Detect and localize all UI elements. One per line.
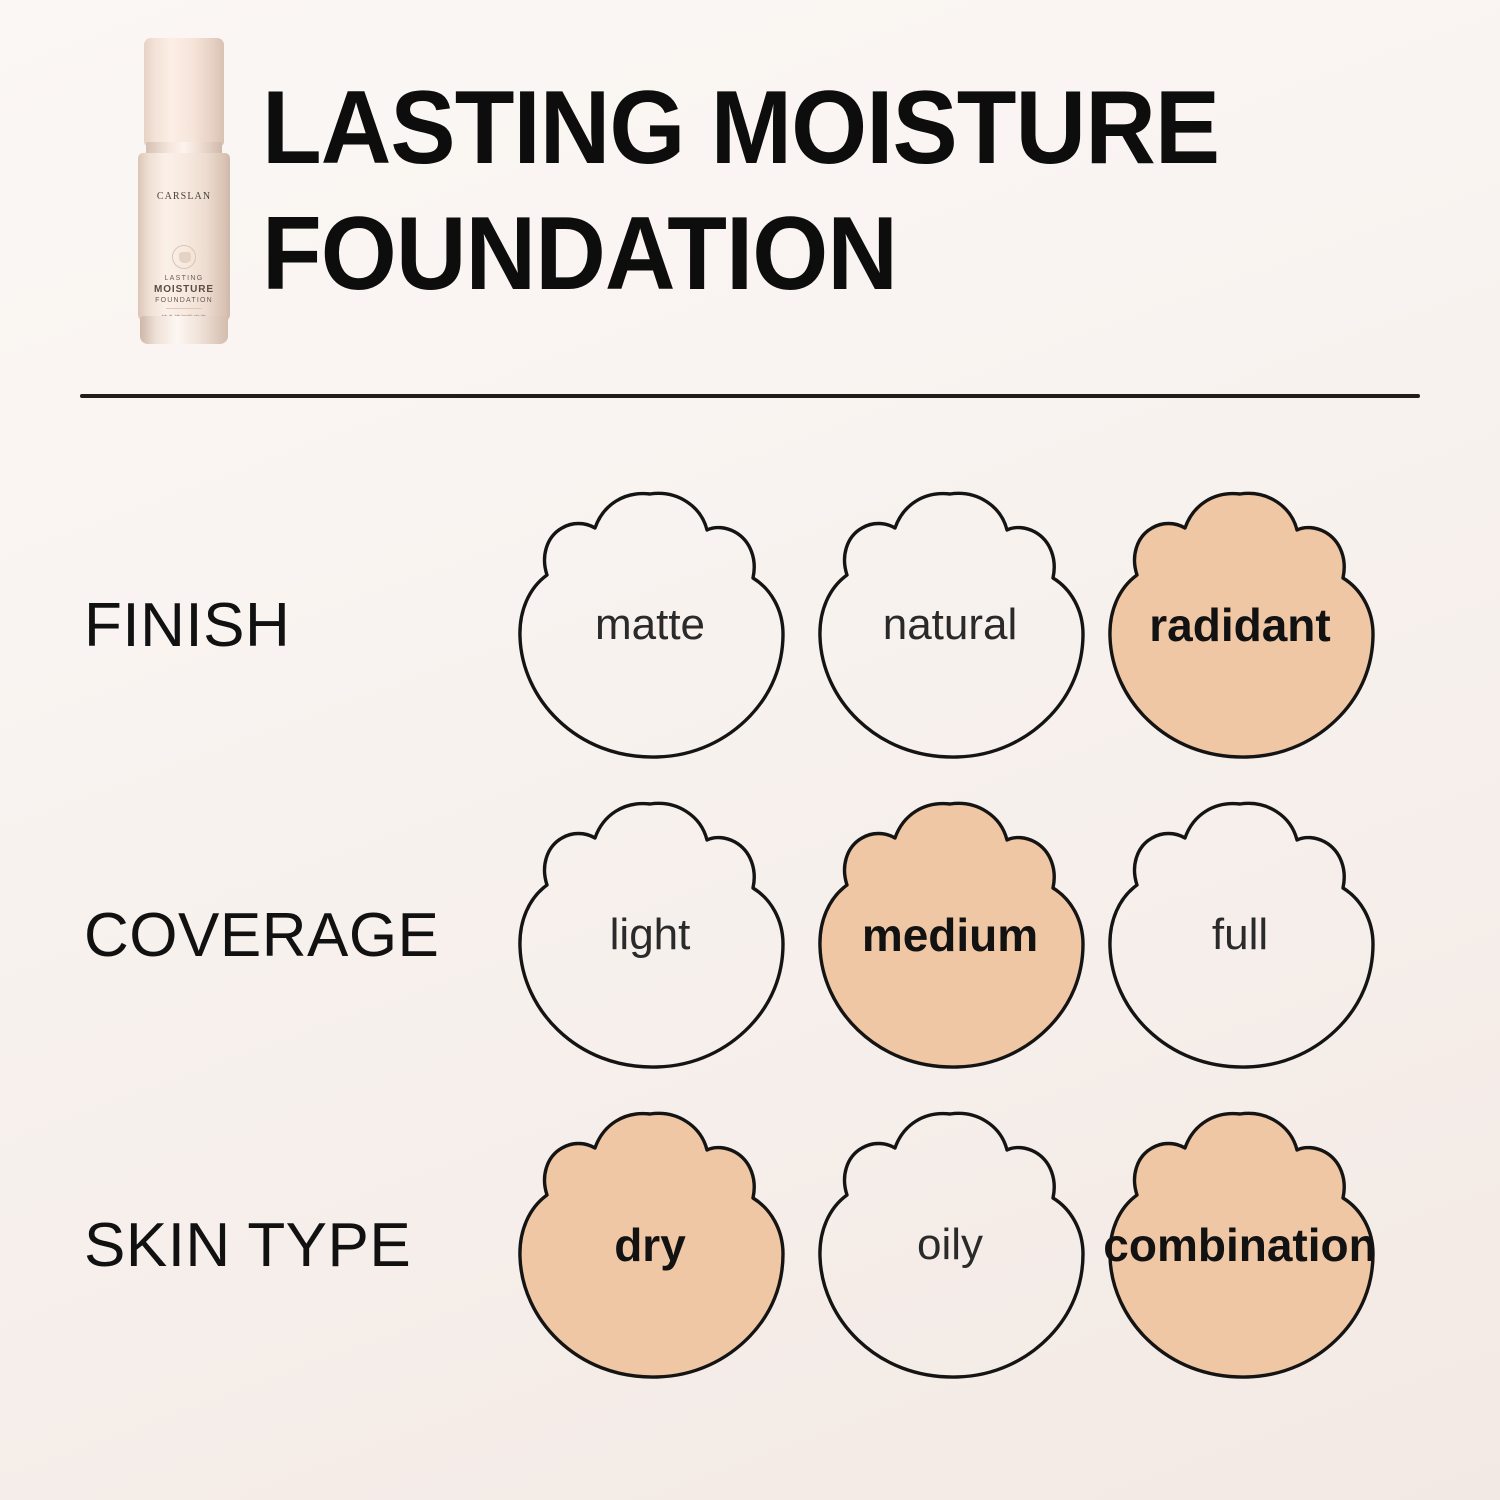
option-label: full bbox=[1075, 790, 1405, 1080]
bottle-body: CARSLAN LASTING MOISTURE FOUNDATION 持久滀润… bbox=[138, 153, 230, 323]
bottle-base bbox=[140, 316, 228, 344]
option-group: dryoilycombination bbox=[505, 1090, 1405, 1400]
matrix-row: COVERAGElightmediumfull bbox=[0, 780, 1500, 1090]
header-divider bbox=[80, 394, 1420, 398]
option-blob-matte[interactable]: matte bbox=[505, 480, 795, 770]
page-title: LASTING MOISTURE FOUNDATION bbox=[262, 76, 1382, 306]
title-line-2: FOUNDATION bbox=[262, 202, 1315, 306]
bottle-label-line-2: MOISTURE bbox=[138, 284, 230, 295]
option-blob-light[interactable]: light bbox=[505, 790, 795, 1080]
option-blob-dry[interactable]: dry bbox=[505, 1100, 795, 1390]
option-blob-medium[interactable]: medium bbox=[805, 790, 1095, 1080]
option-label: oily bbox=[785, 1100, 1115, 1390]
option-label: medium bbox=[785, 790, 1115, 1080]
option-label: dry bbox=[485, 1100, 815, 1390]
option-label: matte bbox=[485, 480, 815, 770]
option-label: radidant bbox=[1075, 480, 1405, 770]
option-group: mattenaturalradidant bbox=[505, 470, 1405, 780]
row-label-finish: FINISH bbox=[84, 470, 290, 780]
option-blob-oily[interactable]: oily bbox=[805, 1100, 1095, 1390]
header: CARSLAN LASTING MOISTURE FOUNDATION 持久滀润… bbox=[0, 0, 1500, 380]
option-blob-full[interactable]: full bbox=[1095, 790, 1385, 1080]
attribute-matrix: FINISHmattenaturalradidantCOVERAGElightm… bbox=[0, 470, 1500, 1400]
option-blob-combination[interactable]: combination bbox=[1095, 1100, 1385, 1390]
bottle-brand-text: CARSLAN bbox=[138, 191, 230, 202]
row-label-skin-type: SKIN TYPE bbox=[84, 1090, 411, 1400]
product-bottle-image: CARSLAN LASTING MOISTURE FOUNDATION 持久滀润… bbox=[128, 38, 240, 338]
option-group: lightmediumfull bbox=[505, 780, 1405, 1090]
row-label-coverage: COVERAGE bbox=[84, 780, 439, 1090]
title-line-1: LASTING MOISTURE bbox=[262, 76, 1315, 180]
bottle-label-rule bbox=[166, 308, 202, 309]
option-label: natural bbox=[785, 480, 1115, 770]
bottle-label-line-3: FOUNDATION bbox=[138, 297, 230, 304]
bottle-cap bbox=[144, 38, 224, 146]
bottle-emblem-icon bbox=[172, 245, 196, 269]
bottle-label-line-1: LASTING bbox=[138, 275, 230, 282]
option-label: combination bbox=[1075, 1100, 1405, 1390]
infographic-page: CARSLAN LASTING MOISTURE FOUNDATION 持久滀润… bbox=[0, 0, 1500, 1500]
option-blob-natural[interactable]: natural bbox=[805, 480, 1095, 770]
matrix-row: FINISHmattenaturalradidant bbox=[0, 470, 1500, 780]
option-blob-radidant[interactable]: radidant bbox=[1095, 480, 1385, 770]
matrix-row: SKIN TYPEdryoilycombination bbox=[0, 1090, 1500, 1400]
option-label: light bbox=[485, 790, 815, 1080]
